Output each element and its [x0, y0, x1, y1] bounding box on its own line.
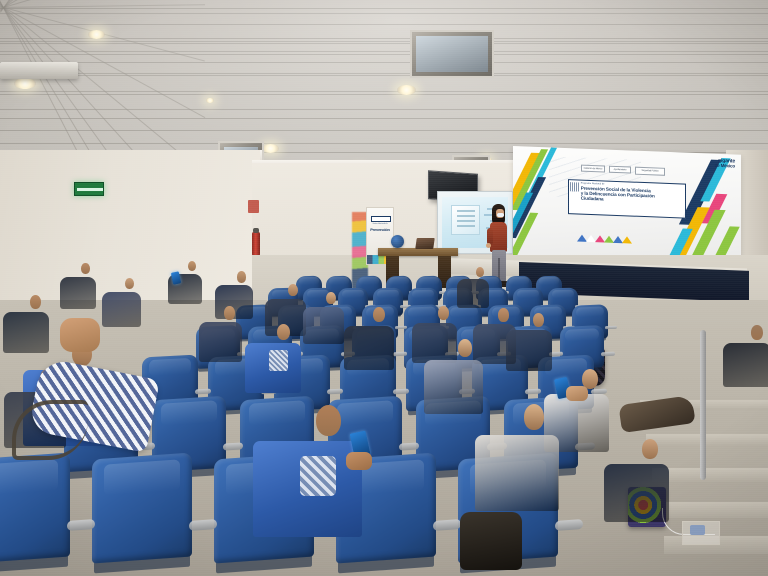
- resting-hand: [60, 318, 100, 352]
- torso: [475, 435, 559, 511]
- face: [533, 313, 544, 327]
- face: [476, 267, 484, 277]
- face: [277, 324, 290, 340]
- audience-member-22: [600, 430, 674, 525]
- top-logo-seguridad-publica: Seguridad Pública: [635, 167, 665, 176]
- laptop-icon: [415, 238, 435, 249]
- seat-armrest-r4-8: [601, 352, 615, 357]
- exit-sign-icon: [74, 182, 104, 196]
- handrail: [700, 330, 706, 480]
- audience-member-21: [470, 392, 565, 514]
- top-logo-gobierno: Gobierno de México: [581, 165, 605, 173]
- torso: [723, 343, 768, 387]
- downlight-2: [262, 144, 279, 153]
- seat-row7-1: [0, 453, 70, 564]
- banner-chevron-6: [622, 236, 632, 243]
- presenter-table: [378, 248, 458, 256]
- audience-member-4: [100, 272, 143, 328]
- banner-qr-icon: [570, 182, 579, 191]
- seat-armrest-r6-4: [399, 442, 419, 450]
- face: [30, 295, 41, 309]
- torso: [604, 464, 669, 523]
- face: [458, 339, 472, 357]
- ac-vent-1: [410, 30, 494, 78]
- slide-figure: [451, 205, 480, 235]
- boot-icon-2: [460, 512, 522, 570]
- hand-2: [566, 386, 588, 401]
- audience-member-9: [341, 300, 397, 372]
- face: [125, 278, 134, 290]
- vest-emblem: [300, 456, 336, 496]
- downlight-11: [88, 30, 105, 39]
- face: [81, 263, 90, 274]
- fire-extinguisher-icon: [252, 232, 260, 257]
- hand-1: [346, 452, 372, 470]
- gigante-de-mexico-logo: gigante de México: [715, 159, 735, 170]
- face: [524, 404, 544, 430]
- face: [316, 405, 341, 436]
- torso: [344, 326, 394, 371]
- audience-member-7: [300, 286, 346, 345]
- rollup-kicker: Juntos Haciendo la: [369, 224, 391, 226]
- torso: [60, 277, 96, 309]
- face: [288, 284, 298, 297]
- face: [237, 271, 246, 282]
- audience-member-14: [243, 316, 303, 393]
- face: [642, 439, 658, 459]
- torso: [303, 307, 344, 344]
- audience-member-3: [58, 258, 99, 310]
- top-logo-ayuntamiento: Ayuntamiento: [609, 166, 631, 174]
- audience-member-17: [720, 318, 768, 388]
- seat-row7-2: [92, 453, 192, 564]
- face: [224, 306, 235, 319]
- fire-extinguisher-sign-icon: [248, 200, 259, 213]
- face: [751, 325, 763, 340]
- vent-grille: [416, 36, 488, 72]
- face: [373, 307, 385, 322]
- photo-scene: gigante de México Gobierno de México Ayu…: [0, 0, 768, 576]
- torso: [199, 322, 242, 361]
- face: [188, 261, 196, 271]
- event-backdrop-banner: gigante de México Gobierno de México Ayu…: [513, 146, 741, 271]
- projector-icon: [0, 62, 78, 79]
- downlight-1: [14, 78, 36, 89]
- audience-member-8: [196, 300, 245, 363]
- seat-armrest-r6-2: [223, 442, 243, 450]
- brand-line-2: de México: [715, 164, 735, 169]
- vest-emblem: [269, 350, 288, 371]
- banner-title-box: Programa Nacional de Prevención Social d…: [568, 179, 687, 218]
- downlight-3: [397, 85, 416, 95]
- torso: [102, 292, 140, 327]
- equipment-round: [391, 235, 404, 248]
- floor-plate-icon: [682, 521, 720, 545]
- downlight-12: [206, 98, 214, 103]
- face: [438, 306, 449, 320]
- face: [326, 292, 336, 305]
- rollup-title: Prevención: [369, 228, 391, 232]
